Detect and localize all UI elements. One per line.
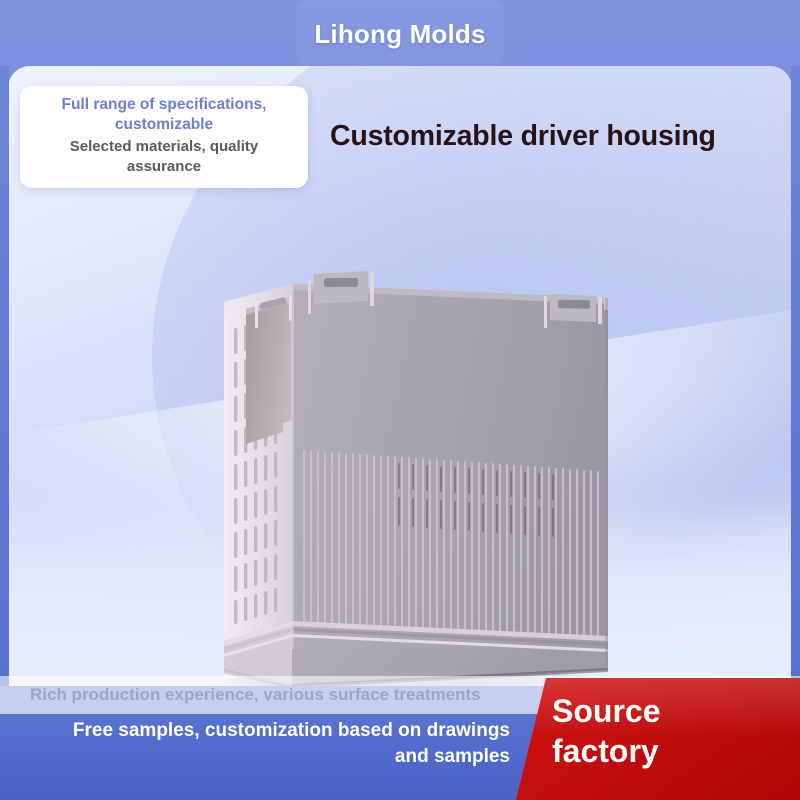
badge-line-2: factory [552,732,792,772]
info-card: Full range of specifications, customizab… [20,86,308,188]
left-edge-accent [0,66,9,686]
product-marketing-poster: Lihong Molds [0,0,800,800]
source-factory-badge: Source factory [516,678,800,800]
footer-tagline: Rich production experience, various surf… [30,676,481,714]
info-card-subtext: Selected materials, quality assurance [34,137,294,177]
badge-text: Source factory [552,692,792,771]
right-edge-accent [791,66,800,686]
footer-promo-text: Free samples, customization based on dra… [60,718,510,770]
brand-title: Lihong Molds [0,0,800,68]
badge-line-1: Source [552,692,792,732]
info-card-heading: Full range of specifications, customizab… [34,95,294,135]
page-title: Customizable driver housing [330,120,790,154]
